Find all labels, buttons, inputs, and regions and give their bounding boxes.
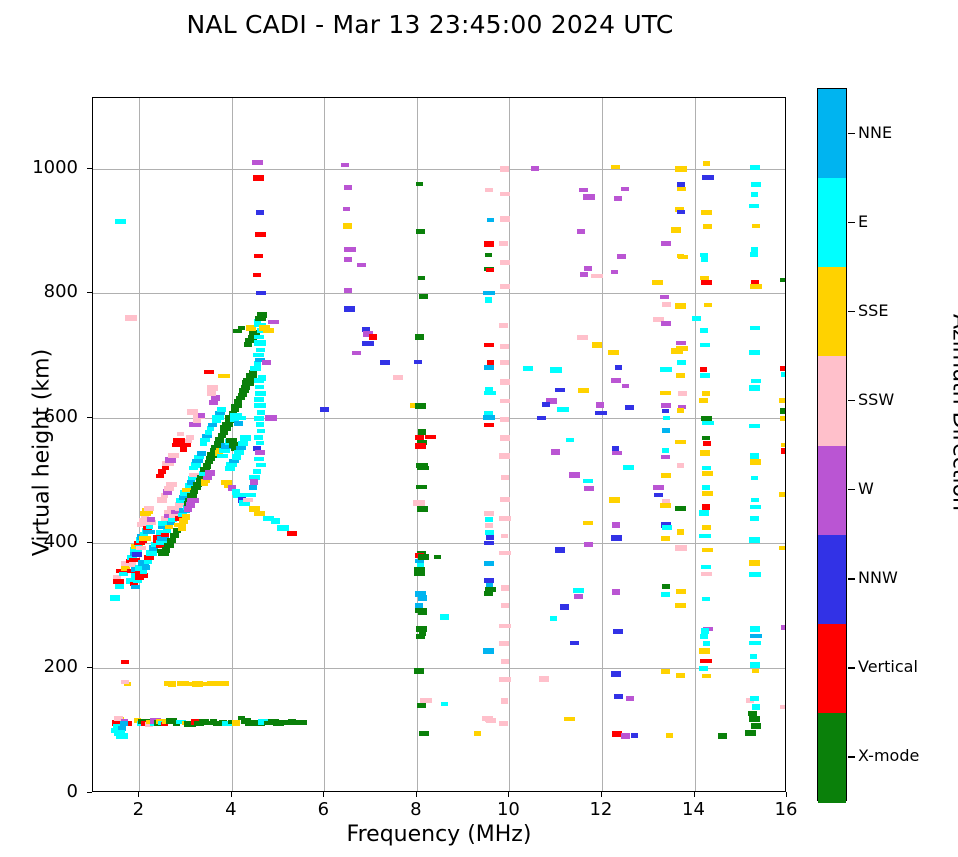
colorbar-label-w: W bbox=[858, 479, 874, 498]
scatter-point bbox=[499, 516, 511, 521]
scatter-point bbox=[484, 365, 494, 370]
scatter-point bbox=[180, 442, 191, 447]
scatter-point bbox=[500, 435, 510, 441]
scatter-point bbox=[612, 589, 620, 595]
scatter-point bbox=[499, 323, 508, 328]
colorbar-band-vertical[interactable] bbox=[818, 624, 846, 714]
y-tick bbox=[87, 542, 92, 543]
scatter-point bbox=[253, 273, 261, 277]
scatter-point bbox=[750, 252, 758, 257]
colorbar-label-x-mode: X-mode bbox=[858, 746, 919, 765]
scatter-point bbox=[236, 396, 245, 400]
scatter-point bbox=[483, 415, 495, 420]
x-tick-label: 6 bbox=[293, 799, 353, 820]
scatter-point bbox=[115, 584, 124, 589]
x-tick-label: 10 bbox=[478, 799, 538, 820]
scatter-point bbox=[253, 353, 264, 357]
scatter-point bbox=[751, 192, 758, 197]
scatter-point bbox=[751, 182, 761, 187]
scatter-point bbox=[621, 187, 629, 191]
scatter-point bbox=[748, 711, 757, 716]
scatter-point bbox=[750, 654, 757, 659]
scatter-point bbox=[255, 391, 266, 396]
scatter-point bbox=[749, 641, 761, 645]
scatter-point bbox=[781, 372, 785, 377]
scatter-point bbox=[583, 521, 593, 525]
scatter-point bbox=[222, 422, 233, 427]
colorbar-band-w[interactable] bbox=[818, 446, 846, 536]
scatter-point bbox=[143, 530, 155, 534]
scatter-point bbox=[144, 506, 154, 511]
scatter-point bbox=[369, 334, 377, 340]
scatter-point bbox=[699, 666, 708, 671]
colorbar-label-e: E bbox=[858, 212, 868, 231]
scatter-point bbox=[271, 518, 280, 524]
scatter-point bbox=[779, 546, 785, 550]
scatter-point bbox=[625, 405, 634, 410]
scatter-point bbox=[415, 334, 424, 340]
scatter-point bbox=[417, 703, 426, 708]
scatter-point bbox=[699, 510, 709, 516]
scatter-point bbox=[254, 435, 263, 440]
scatter-point bbox=[487, 218, 494, 222]
scatter-point bbox=[780, 278, 785, 282]
scatter-point bbox=[675, 440, 686, 444]
scatter-point bbox=[231, 407, 239, 412]
scatter-point bbox=[676, 341, 686, 345]
scatter-point bbox=[702, 525, 711, 530]
colorbar-tick bbox=[848, 400, 855, 401]
scatter-point bbox=[749, 424, 760, 428]
scatter-point bbox=[415, 403, 426, 409]
scatter-point bbox=[609, 497, 620, 503]
scatter-point bbox=[221, 681, 229, 686]
scatter-point bbox=[661, 455, 670, 459]
scatter-point bbox=[255, 385, 264, 389]
scatter-point bbox=[139, 536, 151, 541]
scatter-point bbox=[499, 624, 511, 628]
x-tick bbox=[694, 792, 695, 797]
scatter-point bbox=[614, 694, 623, 699]
scatter-point bbox=[661, 669, 670, 674]
colorbar-band-nne[interactable] bbox=[818, 89, 846, 179]
scatter-point bbox=[677, 187, 686, 191]
scatter-point bbox=[344, 288, 352, 293]
scatter-point bbox=[418, 611, 427, 615]
scatter-point bbox=[596, 402, 604, 408]
scatter-point bbox=[700, 659, 712, 663]
scatter-point bbox=[702, 421, 714, 425]
scatter-point bbox=[661, 241, 671, 246]
scatter-point bbox=[613, 629, 623, 634]
scatter-point bbox=[662, 302, 671, 307]
scatter-point bbox=[781, 625, 785, 630]
scatter-point bbox=[749, 560, 760, 566]
scatter-point bbox=[626, 696, 634, 701]
scatter-point bbox=[701, 572, 712, 576]
scatter-point bbox=[500, 166, 509, 172]
y-tick bbox=[87, 292, 92, 293]
colorbar[interactable] bbox=[817, 88, 847, 801]
scatter-point bbox=[779, 398, 785, 403]
scatter-point bbox=[501, 698, 508, 704]
scatter-point bbox=[701, 257, 708, 262]
scatter-point bbox=[750, 634, 762, 638]
scatter-point bbox=[425, 435, 436, 439]
scatter-point bbox=[414, 571, 425, 576]
x-tick bbox=[231, 792, 232, 797]
scatter-point bbox=[749, 350, 760, 355]
scatter-point bbox=[254, 340, 266, 346]
scatter-point bbox=[702, 175, 714, 180]
scatter-point bbox=[704, 303, 712, 307]
colorbar-band-nnw[interactable] bbox=[818, 535, 846, 625]
scatter-point bbox=[583, 194, 595, 200]
scatter-point bbox=[718, 733, 727, 739]
scatter-point bbox=[677, 529, 684, 535]
scatter-point bbox=[441, 702, 448, 706]
scatter-point bbox=[254, 254, 263, 258]
scatter-point bbox=[700, 634, 708, 639]
y-tick-label: 1000 bbox=[18, 157, 78, 178]
scatter-point bbox=[621, 733, 630, 739]
scatter-point bbox=[622, 384, 629, 388]
scatter-point bbox=[662, 448, 669, 453]
scatter-point bbox=[440, 614, 449, 620]
y-tick-label: 200 bbox=[18, 656, 78, 677]
scatter-point bbox=[120, 721, 128, 726]
colorbar-tick bbox=[848, 489, 855, 490]
scatter-point bbox=[413, 500, 425, 506]
scatter-point bbox=[749, 204, 759, 208]
scatter-point bbox=[499, 241, 508, 246]
scatter-point bbox=[362, 341, 374, 346]
scatter-point bbox=[661, 473, 671, 478]
scatter-point bbox=[539, 676, 549, 682]
scatter-point bbox=[623, 465, 634, 470]
scatter-point bbox=[416, 182, 423, 186]
scatter-point bbox=[484, 241, 494, 247]
scatter-point bbox=[675, 545, 687, 551]
x-tick bbox=[508, 792, 509, 797]
scatter-point bbox=[703, 224, 712, 229]
y-tick-label: 0 bbox=[18, 781, 78, 802]
scatter-point bbox=[121, 660, 129, 664]
scatter-point bbox=[677, 463, 684, 468]
scatter-point bbox=[486, 718, 496, 723]
x-tick-label: 16 bbox=[756, 799, 816, 820]
scatter-point bbox=[702, 436, 710, 440]
scatter-point bbox=[320, 407, 329, 412]
scatter-point bbox=[484, 423, 494, 427]
scatter-point bbox=[249, 485, 257, 490]
scatter-point bbox=[256, 348, 265, 352]
scatter-point bbox=[662, 584, 670, 589]
scatter-point bbox=[172, 443, 181, 447]
scatter-point bbox=[703, 161, 710, 166]
scatter-point bbox=[205, 470, 215, 476]
scatter-point bbox=[661, 403, 671, 408]
scatter-point bbox=[207, 385, 218, 391]
scatter-point bbox=[142, 565, 150, 570]
scatter-point bbox=[263, 328, 274, 333]
scatter-point bbox=[164, 543, 174, 548]
scatter-point bbox=[116, 733, 128, 739]
scatter-point bbox=[557, 407, 569, 412]
scatter-point bbox=[168, 681, 176, 687]
scatter-point bbox=[255, 450, 265, 455]
scatter-point bbox=[617, 254, 626, 259]
scatter-point bbox=[168, 453, 179, 458]
scatter-point bbox=[701, 628, 709, 634]
scatter-point bbox=[701, 210, 712, 215]
scatter-point bbox=[542, 402, 550, 407]
scatter-point bbox=[256, 210, 264, 215]
scatter-point bbox=[660, 391, 671, 395]
colorbar-band-ssw[interactable] bbox=[818, 356, 846, 446]
scatter-point bbox=[485, 253, 492, 257]
scatter-point bbox=[531, 166, 539, 171]
scatter-point bbox=[500, 192, 510, 196]
scatter-point bbox=[750, 516, 759, 521]
x-tick bbox=[601, 792, 602, 797]
scatter-point bbox=[579, 188, 588, 192]
scatter-point bbox=[240, 435, 251, 441]
scatter-point bbox=[163, 529, 171, 533]
scatter-point bbox=[115, 219, 126, 224]
colorbar-label-vertical: Vertical bbox=[858, 657, 918, 676]
scatter-point bbox=[700, 328, 708, 333]
scatter-point bbox=[211, 395, 220, 401]
scatter-point bbox=[550, 367, 562, 373]
scatter-point bbox=[661, 321, 671, 326]
colorbar-label-ssw: SSW bbox=[858, 390, 894, 409]
scatter-point bbox=[702, 466, 711, 470]
scatter-point bbox=[265, 415, 277, 421]
scatter-point bbox=[207, 391, 216, 396]
scatter-point bbox=[702, 548, 713, 552]
scatter-point bbox=[170, 533, 179, 538]
scatter-point bbox=[555, 547, 565, 553]
scatter-point bbox=[256, 441, 264, 445]
scatter-point bbox=[752, 704, 760, 710]
y-tick bbox=[87, 667, 92, 668]
colorbar-band-x-mode[interactable] bbox=[818, 713, 846, 803]
scatter-point bbox=[578, 388, 589, 393]
scatter-point bbox=[161, 533, 169, 537]
scatter-point bbox=[750, 505, 761, 509]
scatter-point bbox=[486, 535, 494, 540]
colorbar-label-sse: SSE bbox=[858, 301, 888, 320]
scatter-point bbox=[702, 471, 713, 476]
scatter-point bbox=[537, 416, 546, 420]
scatter-point bbox=[611, 270, 618, 274]
y-tick bbox=[87, 168, 92, 169]
scatter-point bbox=[167, 538, 176, 543]
scatter-point bbox=[692, 316, 701, 321]
scatter-point bbox=[499, 453, 510, 459]
scatter-point bbox=[677, 408, 684, 413]
scatter-point bbox=[180, 447, 187, 452]
scatter-point bbox=[574, 594, 583, 599]
scatter-point bbox=[675, 166, 687, 172]
scatter-point bbox=[614, 196, 622, 201]
colorbar-tick bbox=[848, 311, 855, 312]
colorbar-label-nne: NNE bbox=[858, 123, 892, 142]
scatter-point bbox=[178, 526, 186, 531]
scatter-point bbox=[254, 457, 264, 461]
scatter-point bbox=[499, 677, 511, 682]
scatter-point bbox=[499, 641, 509, 646]
scatter-point bbox=[752, 669, 759, 673]
x-tick-label: 2 bbox=[108, 799, 168, 820]
scatter-point bbox=[198, 413, 205, 418]
scatter-point bbox=[192, 459, 203, 463]
scatter-point bbox=[417, 466, 429, 470]
scatter-point bbox=[551, 449, 560, 455]
scatter-point bbox=[700, 367, 707, 372]
scatter-point bbox=[611, 671, 621, 677]
scatter-point bbox=[676, 589, 686, 594]
scatter-point bbox=[701, 416, 712, 421]
scatter-point bbox=[485, 517, 493, 522]
colorbar-tick bbox=[848, 578, 855, 579]
scatter-point bbox=[416, 485, 427, 489]
scatter-point bbox=[499, 721, 508, 726]
scatter-point bbox=[566, 438, 574, 442]
scatter-point bbox=[779, 492, 785, 497]
scatter-point bbox=[244, 493, 256, 497]
scatter-point bbox=[500, 216, 510, 222]
scatter-point bbox=[499, 551, 511, 555]
scatter-point bbox=[486, 268, 494, 272]
y-axis-label: Virtual height (km) bbox=[30, 303, 55, 603]
scatter-point bbox=[217, 407, 226, 412]
scatter-point bbox=[750, 459, 761, 465]
scatter-point bbox=[237, 416, 246, 420]
scatter-point bbox=[136, 546, 146, 550]
colorbar-band-e[interactable] bbox=[818, 178, 846, 268]
scatter-point bbox=[662, 428, 670, 433]
scatter-point bbox=[501, 585, 509, 591]
scatter-point bbox=[253, 469, 261, 474]
scatter-point bbox=[677, 360, 686, 365]
scatter-point bbox=[500, 417, 509, 422]
scatter-point bbox=[256, 463, 266, 467]
scatter-point bbox=[500, 284, 510, 289]
scatter-point bbox=[250, 366, 261, 371]
scatter-point bbox=[750, 626, 760, 632]
scatter-point bbox=[416, 634, 425, 639]
scatter-point bbox=[483, 648, 494, 654]
scatter-point bbox=[615, 365, 622, 370]
scatter-point bbox=[485, 297, 492, 303]
scatter-point bbox=[166, 482, 177, 487]
scatter-point bbox=[591, 274, 603, 278]
scatter-point bbox=[484, 343, 494, 347]
scatter-point bbox=[500, 344, 509, 349]
scatter-point bbox=[701, 565, 711, 569]
scatter-point bbox=[474, 731, 481, 736]
x-tick-label: 8 bbox=[386, 799, 446, 820]
scatter-point bbox=[484, 541, 494, 545]
scatter-point bbox=[675, 303, 686, 309]
scatter-point bbox=[661, 592, 670, 597]
page-title: NAL CADI - Mar 13 23:45:00 2024 UTC bbox=[0, 10, 860, 39]
scatter-point bbox=[750, 326, 760, 330]
scatter-point bbox=[583, 479, 593, 483]
y-tick-label: 800 bbox=[18, 281, 78, 302]
scatter-points-layer bbox=[93, 98, 785, 791]
scatter-point bbox=[660, 503, 671, 508]
scatter-point bbox=[257, 312, 267, 318]
colorbar-label-nnw: NNW bbox=[858, 568, 898, 587]
colorbar-tick bbox=[848, 133, 855, 134]
scatter-point bbox=[500, 260, 510, 265]
scatter-point bbox=[257, 429, 265, 433]
x-axis-label: Frequency (MHz) bbox=[92, 822, 786, 847]
scatter-point bbox=[700, 373, 710, 378]
scatter-point bbox=[295, 720, 307, 725]
scatter-point bbox=[663, 416, 670, 420]
scatter-point bbox=[749, 572, 761, 577]
scatter-point bbox=[415, 443, 426, 449]
scatter-point bbox=[699, 648, 710, 654]
scatter-point bbox=[666, 733, 673, 738]
scatter-point bbox=[344, 247, 356, 252]
scatter-point bbox=[484, 561, 494, 566]
scatter-point bbox=[564, 717, 575, 721]
scatter-point bbox=[255, 232, 266, 237]
scatter-point bbox=[182, 514, 190, 520]
scatter-point bbox=[675, 603, 686, 608]
scatter-point bbox=[701, 280, 712, 285]
scatter-point bbox=[749, 716, 760, 722]
scatter-point bbox=[678, 255, 688, 259]
scatter-point bbox=[254, 416, 264, 421]
scatter-point bbox=[745, 730, 756, 736]
scatter-point bbox=[177, 432, 184, 436]
scatter-point bbox=[484, 511, 494, 516]
scatter-point bbox=[204, 370, 214, 374]
scatter-point bbox=[258, 375, 266, 381]
scatter-point bbox=[612, 451, 622, 455]
scatter-point bbox=[147, 517, 155, 522]
colorbar-band-sse[interactable] bbox=[818, 267, 846, 357]
scatter-point bbox=[702, 485, 710, 490]
scatter-point bbox=[780, 366, 785, 371]
scatter-point bbox=[500, 399, 510, 403]
scatter-point bbox=[256, 422, 264, 427]
scatter-point bbox=[256, 291, 266, 295]
scatter-point bbox=[671, 348, 683, 354]
scatter-point bbox=[500, 497, 510, 502]
scatter-point bbox=[254, 335, 264, 339]
scatter-point bbox=[661, 536, 670, 541]
scatter-point bbox=[352, 351, 361, 355]
scatter-point bbox=[414, 668, 424, 674]
scatter-point bbox=[417, 506, 428, 512]
scatter-point bbox=[699, 534, 711, 538]
scatter-point bbox=[676, 673, 685, 678]
scatter-point bbox=[702, 391, 710, 396]
scatter-point bbox=[611, 378, 621, 383]
scatter-point bbox=[780, 408, 785, 414]
y-tick bbox=[87, 417, 92, 418]
scatter-point bbox=[677, 210, 685, 214]
scatter-point bbox=[781, 443, 785, 447]
scatter-point bbox=[700, 343, 710, 347]
